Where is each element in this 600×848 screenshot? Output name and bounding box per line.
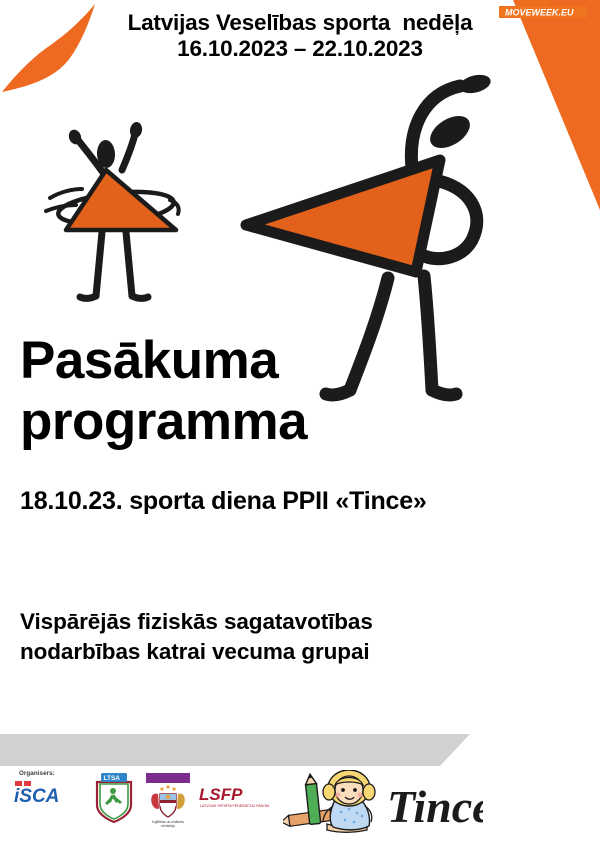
description-line-2: nodarbības katrai vecuma grupai — [20, 637, 540, 667]
latvia-coat-of-arms-logo[interactable]: Izglītības un zinātnes ministrija — [140, 772, 196, 830]
title-line-1: Pasākuma — [20, 330, 450, 391]
svg-text:LSFP: LSFP — [199, 785, 243, 804]
join-us-label: Join us at: — [518, 0, 550, 6]
poster-header: Latvijas Veselības sporta nedēļa 16.10.2… — [0, 10, 600, 63]
svg-text:LTSA: LTSA — [104, 775, 121, 782]
lsfp-logo[interactable]: LSFP LATVIJAS SPORTA FEDERĀCIJU PADOME — [199, 784, 269, 810]
tince-logo[interactable]: Tince — [283, 770, 483, 838]
header-title-line: Latvijas Veselības sporta nedēļa — [0, 10, 600, 35]
event-description: Vispārējās fiziskās sagatavotības nodarb… — [20, 607, 540, 666]
ministry-label-line-2: ministrija — [161, 824, 174, 828]
event-subtitle: 18.10.23. sporta diena PPII «Tince» — [20, 487, 427, 516]
lsfp-subtext: LATVIJAS SPORTA FEDERĀCIJU PADOME — [200, 804, 269, 808]
ltsa-logo[interactable]: LTSA — [93, 772, 135, 824]
title-line-2: programma — [20, 391, 450, 452]
footer-logo-row: Organisers: iSCA LTSA — [0, 770, 600, 848]
tince-wordmark: Tince — [387, 781, 483, 832]
svg-text:iSCA: iSCA — [14, 786, 59, 805]
poster-canvas: Latvijas Veselības sporta nedēļa 16.10.2… — [0, 0, 600, 848]
stick-figure-hoop — [28, 108, 238, 313]
organisers-label: Organisers: — [19, 770, 55, 777]
grey-divider-band — [0, 734, 600, 766]
page-title: Pasākuma programma — [20, 330, 450, 453]
description-line-1: Vispārējās fiziskās sagatavotības — [20, 607, 540, 637]
isca-logo[interactable]: iSCA — [14, 779, 86, 805]
header-dates-line: 16.10.2023 – 22.10.2023 — [0, 35, 600, 63]
